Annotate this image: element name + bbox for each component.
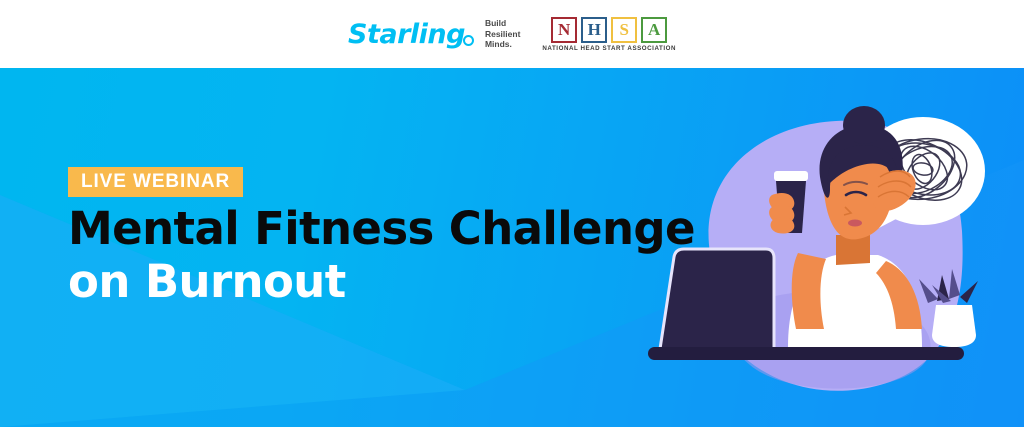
starling-tagline-line-3: Minds. xyxy=(485,39,512,49)
logo-strip: Starling Build Resilient Minds. N H S A … xyxy=(0,0,1024,68)
nhsa-subtitle: NATIONAL HEAD START ASSOCIATION xyxy=(542,45,676,52)
stressed-woman-at-laptop-illustration xyxy=(640,103,1024,403)
nhsa-letter-s: S xyxy=(611,17,637,43)
nhsa-letter-n: N xyxy=(551,17,577,43)
nhsa-logo: N H S A NATIONAL HEAD START ASSOCIATION xyxy=(542,17,676,52)
starling-logo: Starling Build Resilient Minds. xyxy=(348,18,520,51)
hero-section: LIVE WEBINAR Mental Fitness Challenge on… xyxy=(0,68,1024,427)
live-webinar-badge: LIVE WEBINAR xyxy=(68,167,243,197)
nhsa-letter-boxes: N H S A xyxy=(551,17,667,43)
nhsa-letter-h: H xyxy=(581,17,607,43)
headline-line-2: on Burnout xyxy=(68,255,708,308)
starling-tagline: Build Resilient Minds. xyxy=(485,18,520,51)
headline-line-1: Mental Fitness Challenge xyxy=(68,202,708,255)
desk-surface xyxy=(648,347,964,360)
nhsa-letter-a: A xyxy=(641,17,667,43)
starling-tagline-line-1: Build xyxy=(485,18,506,28)
page-title: Mental Fitness Challenge on Burnout xyxy=(68,202,708,308)
hero-content: LIVE WEBINAR Mental Fitness Challenge on… xyxy=(0,68,1024,427)
webinar-banner: Starling Build Resilient Minds. N H S A … xyxy=(0,0,1024,427)
starling-tagline-line-2: Resilient xyxy=(485,29,520,39)
starling-wordmark: Starling xyxy=(348,21,465,48)
